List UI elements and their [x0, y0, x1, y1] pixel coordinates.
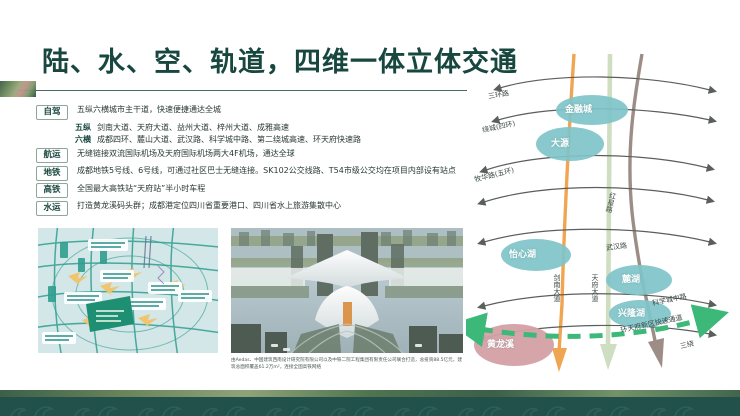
transport-text-gaotie: 全国最大高铁站“天府站”半小时车程 [77, 183, 205, 195]
photo-caption: 由Aedas、中国建筑西南设计研究院有限公司以及中铁二院工程集团有限责任公司联合… [231, 357, 466, 371]
sub-value-liuheng: 成都四环、麓山大道、武汉路、科学城中路、第二绕城高速、环天府快速路 [97, 134, 361, 145]
decorative-ornament-icon [0, 81, 36, 97]
transport-tag-hangyun: 航运 [36, 148, 68, 163]
list-item: 航运 无缝链接双流国际机场及天府国际机场两大4F机场，通达全球 [36, 148, 476, 164]
list-item: 高铁 全国最大高铁站“天府站”半小时车程 [36, 183, 476, 199]
footer-ornament-band [0, 390, 740, 416]
sub-list-item: 五纵 剑南大道、天府大道、益州大道、梓州大道、成雅高速 [75, 122, 476, 133]
district-label-dayuan: 大源 [551, 136, 569, 149]
map-road-label-tianfudadao: 天府大道 [590, 274, 600, 302]
transport-tag-zijia: 自驾 [36, 105, 68, 120]
footer-pattern-icon [0, 396, 740, 416]
transport-text-zijia: 五纵六横城市主干道，快速便捷通达全城 [77, 104, 221, 116]
slide-root: 陆、水、空、轨道，四维一体立体交通 自驾 五纵六横城市主干道，快速便捷通达全城 … [0, 0, 740, 416]
transport-tag-shuiyun: 水运 [36, 201, 68, 216]
district-label-huanglongxi: 黄龙溪 [487, 337, 514, 350]
district-label-yixinhu: 怡心湖 [509, 247, 536, 260]
sub-key-wuzong: 五纵 [75, 122, 91, 133]
title-divider [18, 90, 467, 91]
tianfu-station-rendering-image [231, 228, 463, 353]
district-label-xinglonghu: 兴隆湖 [618, 306, 645, 319]
traffic-distance-map-image [38, 228, 218, 353]
district-dayuan [536, 127, 604, 161]
transport-tag-ditie: 地铁 [36, 166, 68, 181]
transport-text-hangyun: 无缝链接双流国际机场及天府国际机场两大4F机场，通达全球 [77, 148, 295, 160]
sub-list-item: 六横 成都四环、麓山大道、武汉路、科学城中路、第二绕城高速、环天府快速路 [75, 134, 476, 145]
transport-text-shuiyun: 打造黄龙溪码头群；成都港定位四川省重要港口、四川省水上旅游集散中心 [77, 200, 341, 212]
page-title: 陆、水、空、轨道，四维一体立体交通 [42, 40, 518, 79]
map-road-label-jiannandadao: 剑南大道 [552, 274, 562, 302]
list-item: 自驾 五纵六横城市主干道，快速便捷通达全城 [36, 104, 476, 120]
transport-list: 自驾 五纵六横城市主干道，快速便捷通达全城 五纵 剑南大道、天府大道、益州大道、… [36, 104, 476, 218]
transport-tag-gaotie: 高铁 [36, 183, 68, 198]
district-label-jinrongcheng: 金融城 [565, 102, 592, 115]
transport-text-ditie: 成都地铁5号线、6号线，可通过社区巴士无缝连接。SK102公交线路、T54市级公… [77, 165, 456, 177]
transport-schematic-map: 三环路 绕城(四环) 牧华路(五环) 武汉路 科学城中路 三绕 剑南大道 天府大… [466, 52, 740, 377]
list-item: 地铁 成都地铁5号线、6号线，可通过社区巴士无缝连接。SK102公交线路、T54… [36, 165, 476, 181]
sub-key-liuheng: 六横 [75, 134, 91, 145]
district-label-luhu: 麓湖 [622, 272, 640, 285]
list-item: 水运 打造黄龙溪码头群；成都港定位四川省重要港口、四川省水上旅游集散中心 [36, 200, 476, 216]
sub-value-wuzong: 剑南大道、天府大道、益州大道、梓州大道、成雅高速 [97, 122, 289, 133]
